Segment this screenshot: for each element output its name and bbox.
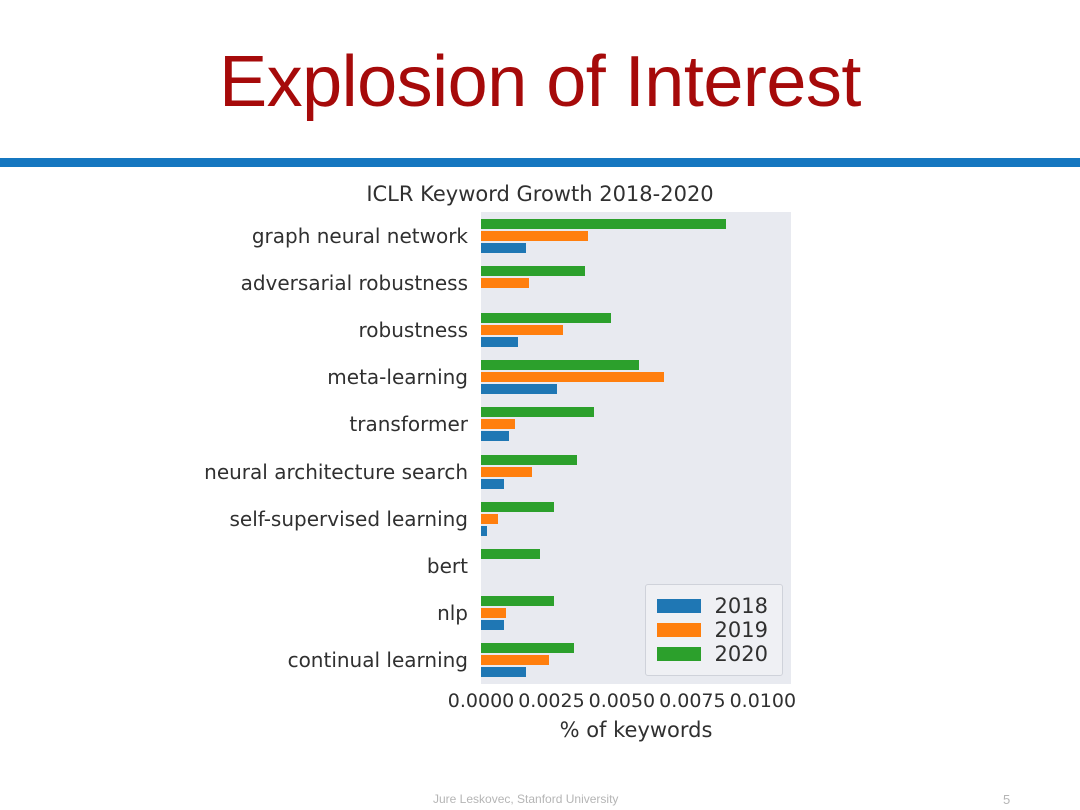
bar-2019 [481,419,515,429]
bar-group [481,360,791,394]
bar-group [481,502,791,536]
bar-group [481,266,791,300]
bar-2020 [481,502,554,512]
bar-2018 [481,479,504,489]
bar-2019 [481,372,664,382]
bar-2019 [481,608,506,618]
title-divider [0,158,1080,167]
bar-group [481,455,791,489]
chart-title: ICLR Keyword Growth 2018-2020 [0,182,1080,206]
legend-label: 2018 [715,596,768,617]
bar-2020 [481,313,611,323]
legend-item-2020[interactable]: 2020 [657,642,768,666]
bar-2019 [481,278,529,288]
chart-figure: ICLR Keyword Growth 2018-2020 graph neur… [0,172,1080,772]
y-axis-tick-label: neural architecture search [140,460,468,484]
bar-2020 [481,643,574,653]
x-axis-tick-label: 0.0100 [730,690,796,712]
bar-2020 [481,596,554,606]
x-axis-tick-label: 0.0025 [518,690,584,712]
y-axis-tick-label: adversarial robustness [140,271,468,295]
bar-2019 [481,231,588,241]
x-axis-tick-label: 0.0000 [448,690,514,712]
y-axis-tick-labels: graph neural networkadversarial robustne… [140,212,468,684]
page-title: Explosion of Interest [0,46,1080,118]
bar-2018 [481,337,518,347]
y-axis-tick-label: robustness [140,318,468,342]
bar-2018 [481,667,526,677]
bar-group [481,407,791,441]
bar-group [481,313,791,347]
x-axis-tick-label: 0.0050 [589,690,655,712]
y-axis-tick-label: nlp [140,601,468,625]
y-axis-tick-label: self-supervised learning [140,507,468,531]
legend-item-2018[interactable]: 2018 [657,594,768,618]
bar-2020 [481,455,577,465]
bar-2020 [481,266,585,276]
plot-area: 201820192020 [481,212,791,684]
legend-label: 2020 [715,644,768,665]
bar-2020 [481,549,540,559]
y-axis-tick-label: graph neural network [140,224,468,248]
bar-2020 [481,360,639,370]
bar-2019 [481,514,498,524]
footer-credit: Jure Leskovec, Stanford University [433,792,618,806]
bar-2019 [481,467,532,477]
bar-2018 [481,526,487,536]
y-axis-tick-label: meta-learning [140,365,468,389]
footer-page-number: 5 [1003,792,1010,807]
legend-label: 2019 [715,620,768,641]
bar-group [481,549,791,583]
bar-2018 [481,384,557,394]
bar-2019 [481,655,549,665]
bar-2020 [481,407,594,417]
bar-2019 [481,325,563,335]
bar-2018 [481,243,526,253]
bar-2020 [481,219,726,229]
y-axis-tick-label: bert [140,554,468,578]
legend-swatch-icon [657,623,701,637]
x-axis-label: % of keywords [481,718,791,742]
legend-item-2019[interactable]: 2019 [657,618,768,642]
y-axis-tick-label: transformer [140,412,468,436]
bar-2018 [481,431,509,441]
x-axis-tick-labels: 0.00000.00250.00500.00750.0100 [481,690,791,716]
chart-legend: 201820192020 [645,584,783,676]
legend-swatch-icon [657,599,701,613]
bar-group [481,219,791,253]
legend-swatch-icon [657,647,701,661]
x-axis-tick-label: 0.0075 [659,690,725,712]
y-axis-tick-label: continual learning [140,648,468,672]
bar-2018 [481,620,504,630]
